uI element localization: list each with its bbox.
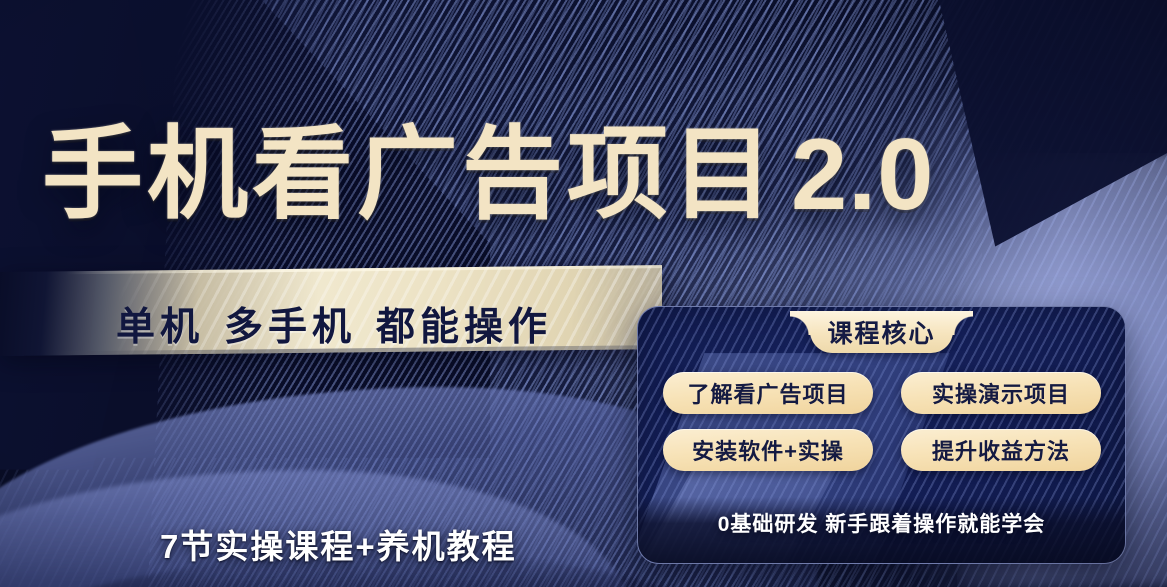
course-count-line: 7节实操课程+养机教程 bbox=[160, 520, 517, 568]
course-core-badge-label: 课程核心 bbox=[827, 314, 935, 350]
feature-pill-2[interactable]: 实操演示项目 bbox=[901, 372, 1101, 414]
title-main-text: 手机看广告项目 bbox=[42, 119, 777, 231]
course-core-badge: 课程核心 bbox=[810, 311, 953, 353]
page-title: 手机看广告项目2.0 bbox=[42, 124, 934, 227]
promo-banner: 手机看广告项目2.0 单机多手机都能操作 课程核心 了解看广告项目 实操演示项目… bbox=[0, 0, 1167, 587]
feature-pill-3[interactable]: 安装软件+实操 bbox=[663, 429, 873, 471]
subtitle-part-1: 单机 bbox=[116, 306, 204, 349]
feature-pill-grid: 了解看广告项目 实操演示项目 安装软件+实操 提升收益方法 bbox=[663, 372, 1103, 471]
title-version-text: 2.0 bbox=[791, 119, 934, 231]
subtitle: 单机多手机都能操作 bbox=[116, 296, 552, 352]
feature-pill-4[interactable]: 提升收益方法 bbox=[901, 429, 1101, 471]
subtitle-part-3: 都能操作 bbox=[376, 306, 552, 349]
feature-pill-1[interactable]: 了解看广告项目 bbox=[663, 372, 873, 414]
panel-caption: 0基础研发 新手跟着操作就能学会 bbox=[637, 508, 1126, 538]
subtitle-part-2: 多手机 bbox=[224, 306, 356, 349]
